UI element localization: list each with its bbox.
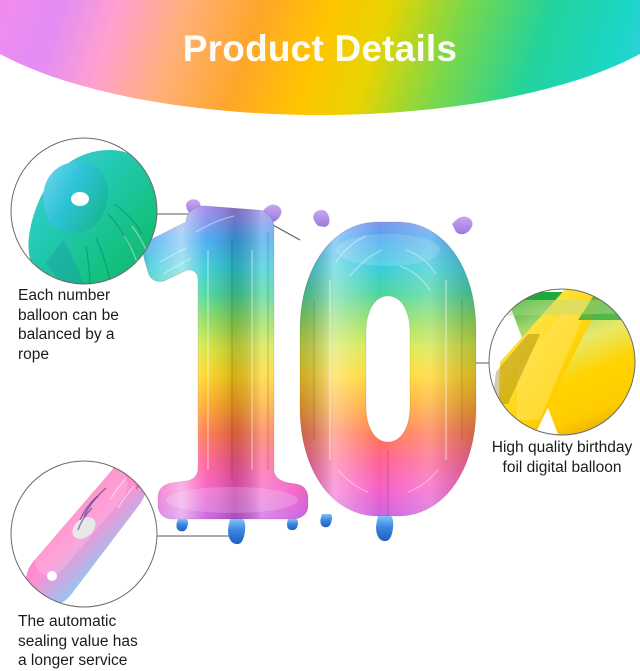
callout-circle-valve: [11, 455, 157, 607]
balloon-foot-left: [176, 519, 188, 531]
leader-lines: [150, 214, 490, 536]
balloon-digit-one: [130, 195, 330, 544]
balloon-foot-right: [287, 519, 298, 530]
balloon-digit-zero: [290, 195, 490, 541]
callout-caption-valve: The automatic sealing value has a longer…: [18, 612, 178, 671]
header-banner: Product Details: [0, 0, 640, 115]
balloon-tab-top-left: [186, 199, 201, 216]
balloon-valve-zero: [376, 516, 393, 541]
balloon-foot-left-zero: [320, 514, 332, 527]
balloon-tab-top-right-zero: [452, 216, 473, 234]
leader-line-rope: [152, 214, 300, 240]
balloon-valve: [228, 519, 245, 544]
balloon-tab-top-right: [262, 204, 282, 222]
page-title: Product Details: [0, 28, 640, 70]
callout-circle-rope: [11, 138, 163, 297]
callout-caption-quality: High quality birthday foil digital ballo…: [487, 438, 637, 477]
balloon-tab-top-left-zero: [313, 210, 329, 227]
callout-circle-quality: [489, 286, 640, 440]
leader-line-valve: [150, 508, 240, 536]
callout-caption-rope: Each number balloon can be balanced by a…: [18, 286, 158, 364]
